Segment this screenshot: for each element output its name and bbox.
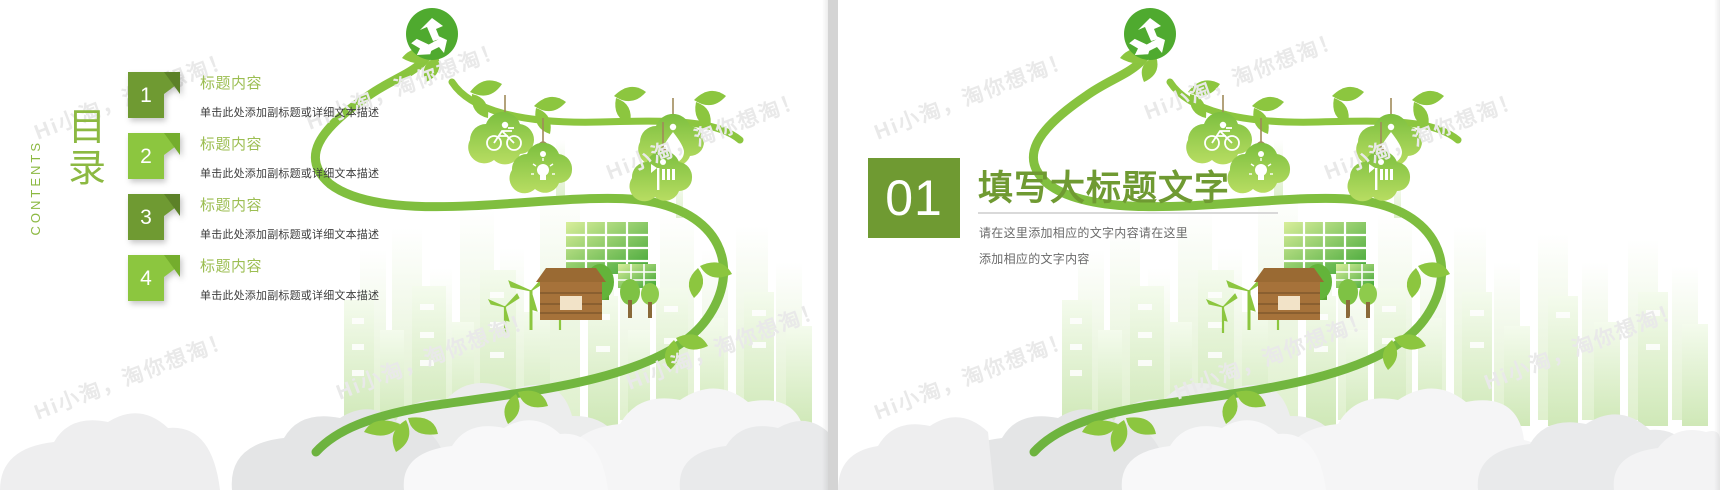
contents-title-en: CONTENTS xyxy=(28,140,43,236)
slide-edge-shadow xyxy=(1714,0,1720,490)
vine-branch xyxy=(1170,82,1458,140)
solar-panel-small xyxy=(1336,264,1374,288)
eco-illustration-right xyxy=(838,0,1720,490)
body-line: 请在这里添加相应的文字内容请在这里 xyxy=(979,224,1188,241)
slide-contents[interactable]: Hi小淘，淘你想淘！ Hi小淘，淘你想淘！ Hi小淘，淘你想淘！ Hi小淘，淘你… xyxy=(0,0,828,490)
number-badge: 3 xyxy=(128,194,180,240)
badge-number: 3 xyxy=(128,194,164,240)
recycle-icon xyxy=(1124,8,1176,60)
list-item[interactable]: 2 标题内容 单击此处添加副标题或详细文本描述 xyxy=(128,133,558,194)
item-description: 单击此处添加副标题或详细文本描述 xyxy=(200,226,379,242)
paper-clouds xyxy=(0,383,828,490)
item-title: 标题内容 xyxy=(200,72,262,93)
watermark: Hi小淘，淘你想淘！ xyxy=(870,44,1076,147)
list-item[interactable]: 3 标题内容 单击此处添加副标题或详细文本描述 xyxy=(128,194,558,255)
slide-section-title[interactable]: Hi小淘，淘你想淘！ Hi小淘，淘你想淘！ Hi小淘，淘你想淘！ Hi小淘，淘你… xyxy=(838,0,1720,490)
contents-list: 1 标题内容 单击此处添加副标题或详细文本描述 2 标题内容 单击此处添加副标题… xyxy=(128,72,558,316)
contents-heading: 目录 CONTENTS xyxy=(34,108,126,190)
trees xyxy=(1304,264,1377,318)
city-skyline-front xyxy=(1062,270,1708,426)
watermark: Hi小淘，淘你想淘！ xyxy=(602,84,808,187)
item-title: 标题内容 xyxy=(200,133,262,154)
list-item[interactable]: 1 标题内容 单击此处添加副标题或详细文本描述 xyxy=(128,72,558,133)
page-title: 填写大标题文字 xyxy=(978,160,1230,211)
watermark: Hi小淘，淘你想淘！ xyxy=(1480,294,1686,397)
trees xyxy=(586,264,659,318)
solar-panel-large xyxy=(566,222,648,300)
number-badge: 4 xyxy=(128,255,180,301)
contents-title-cn: 目录 xyxy=(68,108,108,190)
hanging-tag-lightbulb xyxy=(1228,118,1291,193)
watermark: Hi小淘，淘你想淘！ xyxy=(1140,24,1346,127)
title-divider xyxy=(978,212,1278,214)
log-cabin xyxy=(1254,268,1324,320)
item-description: 单击此处添加副标题或详细文本描述 xyxy=(200,165,379,181)
presentation-thumbnail-strip: Hi小淘，淘你想淘！ Hi小淘，淘你想淘！ Hi小淘，淘你想淘！ Hi小淘，淘你… xyxy=(0,0,1720,490)
watermark: Hi小淘，淘你想淘！ xyxy=(1320,84,1526,187)
slide-divider xyxy=(828,0,838,490)
wind-turbines xyxy=(1207,273,1293,333)
hanging-tag-waterdrop xyxy=(1356,98,1422,166)
section-number-badge: 01 xyxy=(868,158,960,238)
item-title: 标题内容 xyxy=(200,255,262,276)
recycle-icon xyxy=(406,8,458,60)
hanging-tag-bicycle xyxy=(1186,95,1252,164)
item-description: 单击此处添加副标题或详细文本描述 xyxy=(200,287,379,303)
watermark: Hi小淘，淘你想淘！ xyxy=(30,324,236,427)
body-line: 添加相应的文字内容 xyxy=(979,250,1090,267)
hanging-tag-windturbine xyxy=(630,122,693,201)
number-badge: 1 xyxy=(128,72,180,118)
list-item[interactable]: 4 标题内容 单击此处添加副标题或详细文本描述 xyxy=(128,255,558,316)
solar-panel-large xyxy=(1284,222,1366,300)
hanging-tag-waterdrop xyxy=(638,98,704,166)
solar-panel-small xyxy=(618,264,656,288)
vine-leaves xyxy=(1082,49,1450,452)
number-badge: 2 xyxy=(128,133,180,179)
watermark: Hi小淘，淘你想淘！ xyxy=(622,294,828,397)
watermark: Hi小淘，淘你想淘！ xyxy=(870,324,1076,427)
paper-clouds xyxy=(838,383,1720,490)
badge-number: 4 xyxy=(128,255,164,301)
badge-number: 2 xyxy=(128,133,164,179)
vine-stem xyxy=(1033,38,1441,452)
badge-number: 1 xyxy=(128,72,164,118)
hanging-tag-windturbine xyxy=(1348,122,1411,201)
watermark: Hi小淘，淘你想淘！ xyxy=(332,304,538,407)
item-title: 标题内容 xyxy=(200,194,262,215)
item-description: 单击此处添加副标题或详细文本描述 xyxy=(200,104,379,120)
watermark: Hi小淘，淘你想淘！ xyxy=(1170,304,1376,407)
